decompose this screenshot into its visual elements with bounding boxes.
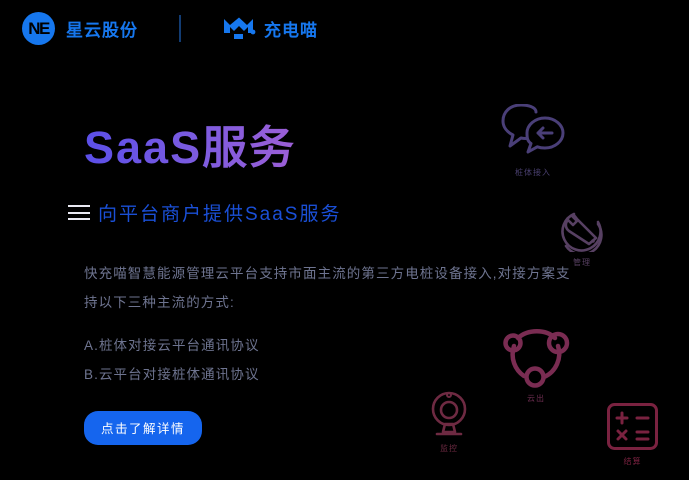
brand-xingyun-label: 星云股份 — [66, 16, 138, 41]
brand-xingyun[interactable]: NE 星云股份 — [22, 12, 138, 45]
deco-access: 桩体接入 — [500, 104, 566, 178]
deco-access-label: 桩体接入 — [515, 167, 551, 178]
chat-bubbles-arrow-icon — [500, 104, 566, 162]
learn-more-button[interactable]: 点击了解详情 — [84, 411, 202, 445]
deco-network: 云出 — [500, 324, 572, 404]
deco-settle-label: 结算 — [624, 456, 642, 467]
xingyun-logo-glyph: NE — [28, 20, 49, 37]
deco-manage: 管理 — [560, 208, 604, 268]
camera-monitor-icon — [424, 390, 474, 438]
network-nodes-icon — [500, 324, 572, 388]
xingyun-logo-icon: NE — [22, 12, 55, 45]
brand-chongdianmiao[interactable]: 充电喵 — [222, 16, 318, 41]
deco-manage-label: 管理 — [573, 257, 591, 268]
page-subtitle: 向平台商户提供SaaS服务 — [98, 199, 341, 226]
menu-lines-icon — [68, 205, 90, 220]
wrench-gear-icon — [560, 208, 604, 252]
hero-description: 快充喵智慧能源管理云平台支持市面主流的第三方电桩设备接入,对接方案支持以下三种主… — [84, 259, 576, 317]
deco-monitor: 监控 — [424, 390, 474, 454]
calculator-icon — [606, 402, 659, 451]
deco-monitor-label: 监控 — [440, 443, 458, 454]
brand-chongdianmiao-label: 充电喵 — [264, 16, 318, 41]
brand-separator — [179, 15, 181, 42]
subtitle-row: 向平台商户提供SaaS服务 — [68, 199, 584, 226]
cat-face-logo-icon — [222, 17, 256, 39]
deco-settle: 结算 — [606, 402, 659, 467]
deco-network-label: 云出 — [527, 393, 545, 404]
page-header: NE 星云股份 充电喵 — [0, 0, 689, 56]
